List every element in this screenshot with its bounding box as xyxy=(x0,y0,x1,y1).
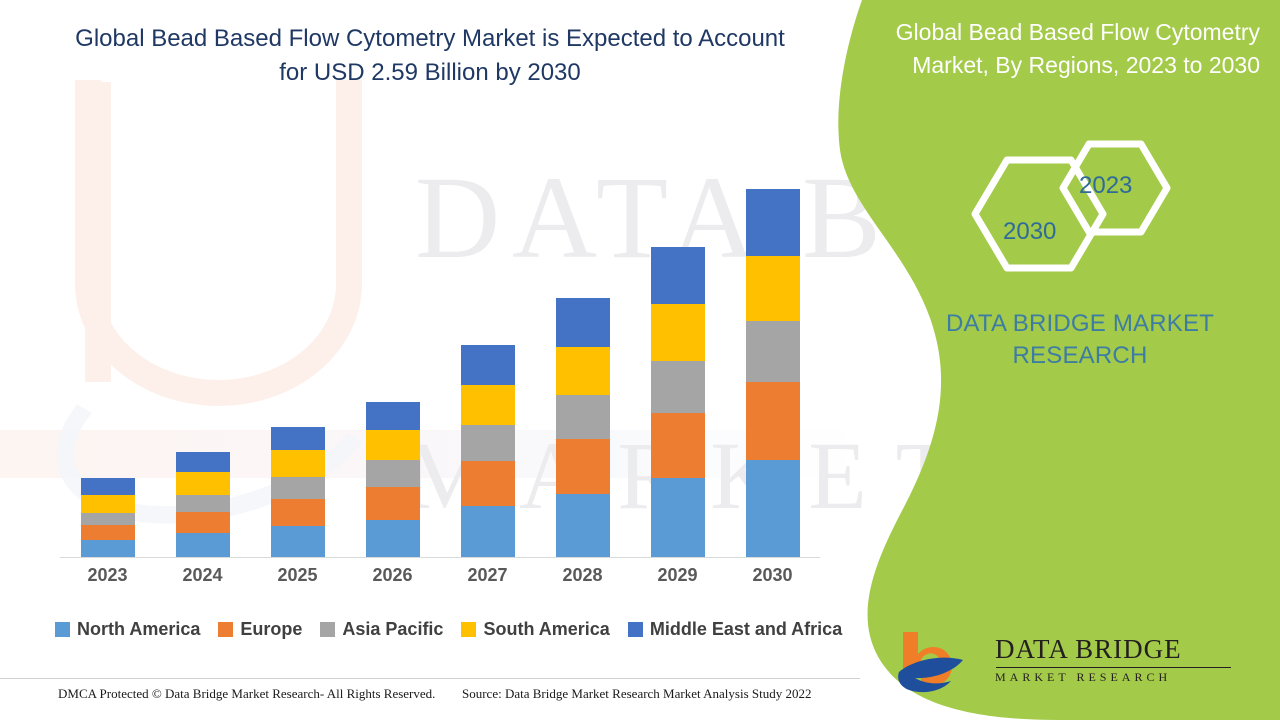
logo-main-text: DATA BRIDGE xyxy=(995,636,1265,663)
stacked-bar-chart xyxy=(60,120,820,558)
bar-segment-north-america xyxy=(271,526,325,557)
footer-divider xyxy=(0,678,860,679)
footer-copyright: DMCA Protected © Data Bridge Market Rese… xyxy=(58,686,435,702)
x-axis-label-2027: 2027 xyxy=(440,565,535,595)
x-axis-label-2029: 2029 xyxy=(630,565,725,595)
x-axis-label-2024: 2024 xyxy=(155,565,250,595)
bar-segment-middle-east-and-africa xyxy=(81,478,135,495)
bar-group xyxy=(60,120,820,557)
legend-item-asia-pacific[interactable]: Asia Pacific xyxy=(320,619,443,640)
legend-item-europe[interactable]: Europe xyxy=(218,619,302,640)
bar-segment-middle-east-and-africa xyxy=(366,402,420,430)
x-axis-line xyxy=(60,557,820,558)
x-axis-labels: 20232024202520262027202820292030 xyxy=(60,565,820,595)
legend-item-north-america[interactable]: North America xyxy=(55,619,200,640)
stacked-bar xyxy=(556,298,610,557)
bar-segment-north-america xyxy=(746,460,800,557)
bar-column-2023 xyxy=(60,120,155,557)
bar-segment-middle-east-and-africa xyxy=(176,452,230,472)
bar-segment-europe xyxy=(176,512,230,533)
bar-segment-asia-pacific xyxy=(461,425,515,461)
legend-label: Middle East and Africa xyxy=(650,619,842,640)
stacked-bar xyxy=(366,402,420,557)
bar-segment-south-america xyxy=(176,472,230,495)
bar-column-2030 xyxy=(725,120,820,557)
bar-segment-asia-pacific xyxy=(366,460,420,487)
bar-segment-south-america xyxy=(81,495,135,513)
bar-column-2027 xyxy=(440,120,535,557)
bar-segment-europe xyxy=(271,499,325,526)
bar-segment-middle-east-and-africa xyxy=(271,427,325,450)
logo-wordmark: DATA BRIDGE MARKET RESEARCH xyxy=(995,636,1265,683)
bar-segment-middle-east-and-africa xyxy=(556,298,610,347)
logo-rule xyxy=(996,667,1231,668)
bar-segment-asia-pacific xyxy=(81,513,135,525)
bar-segment-europe xyxy=(651,413,705,478)
bar-segment-asia-pacific xyxy=(271,477,325,499)
bar-segment-south-america xyxy=(651,304,705,361)
bar-column-2026 xyxy=(345,120,440,557)
footer: DMCA Protected © Data Bridge Market Rese… xyxy=(0,683,860,713)
logo-sub-text: MARKET RESEARCH xyxy=(995,671,1265,683)
page-title: Global Bead Based Flow Cytometry Market … xyxy=(70,22,790,89)
bar-segment-south-america xyxy=(746,256,800,321)
bar-segment-north-america xyxy=(176,533,230,557)
stacked-bar xyxy=(746,189,800,557)
legend-label: North America xyxy=(77,619,200,640)
bar-segment-asia-pacific xyxy=(746,321,800,382)
legend-label: Europe xyxy=(240,619,302,640)
logo-mark-icon xyxy=(895,628,985,698)
bar-column-2025 xyxy=(250,120,345,557)
legend-swatch-icon xyxy=(461,622,476,637)
stacked-bar xyxy=(461,345,515,557)
bar-segment-europe xyxy=(461,461,515,506)
bar-segment-north-america xyxy=(461,506,515,557)
stacked-bar xyxy=(271,427,325,557)
bar-column-2028 xyxy=(535,120,630,557)
side-panel-title: Global Bead Based Flow Cytometry Market,… xyxy=(890,16,1270,81)
legend-label: South America xyxy=(483,619,609,640)
bar-segment-south-america xyxy=(271,450,325,477)
x-axis-label-2026: 2026 xyxy=(345,565,440,595)
x-axis-label-2028: 2028 xyxy=(535,565,630,595)
bar-segment-middle-east-and-africa xyxy=(651,247,705,304)
bar-segment-middle-east-and-africa xyxy=(746,189,800,256)
brand-name: DATA BRIDGE MARKET RESEARCH xyxy=(900,308,1260,373)
legend-swatch-icon xyxy=(628,622,643,637)
stacked-bar xyxy=(651,247,705,557)
legend-swatch-icon xyxy=(55,622,70,637)
infographic-root: DATA BRIDGE MARKET RESEARCH Global Bead … xyxy=(0,0,1280,720)
legend-label: Asia Pacific xyxy=(342,619,443,640)
bar-segment-south-america xyxy=(461,385,515,425)
chart-legend: North AmericaEuropeAsia PacificSouth Ame… xyxy=(55,616,845,642)
legend-swatch-icon xyxy=(218,622,233,637)
chart-area: Global Bead Based Flow Cytometry Market … xyxy=(0,0,860,720)
x-axis-label-2030: 2030 xyxy=(725,565,820,595)
hexagon-label-2030: 2030 xyxy=(1003,218,1056,246)
bar-segment-europe xyxy=(556,439,610,494)
bar-segment-south-america xyxy=(366,430,420,460)
bar-column-2024 xyxy=(155,120,250,557)
bar-segment-north-america xyxy=(81,540,135,557)
bar-segment-north-america xyxy=(366,520,420,557)
hexagon-group: 2023 2030 xyxy=(955,130,1215,300)
bar-column-2029 xyxy=(630,120,725,557)
stacked-bar xyxy=(81,478,135,557)
x-axis-label-2025: 2025 xyxy=(250,565,345,595)
company-logo: DATA BRIDGE MARKET RESEARCH xyxy=(890,628,1270,700)
stacked-bar xyxy=(176,452,230,557)
legend-item-middle-east-and-africa[interactable]: Middle East and Africa xyxy=(628,619,842,640)
bar-segment-north-america xyxy=(651,478,705,557)
bar-segment-asia-pacific xyxy=(651,361,705,413)
bar-segment-europe xyxy=(746,382,800,460)
bar-segment-europe xyxy=(81,525,135,540)
bar-segment-europe xyxy=(366,487,420,520)
bar-segment-middle-east-and-africa xyxy=(461,345,515,385)
footer-source: Source: Data Bridge Market Research Mark… xyxy=(462,686,811,702)
bar-segment-north-america xyxy=(556,494,610,557)
side-panel: Global Bead Based Flow Cytometry Market,… xyxy=(880,0,1280,720)
hexagon-label-2023: 2023 xyxy=(1079,172,1132,200)
bar-segment-asia-pacific xyxy=(176,495,230,512)
legend-swatch-icon xyxy=(320,622,335,637)
bar-segment-asia-pacific xyxy=(556,395,610,439)
x-axis-label-2023: 2023 xyxy=(60,565,155,595)
bar-segment-south-america xyxy=(556,347,610,395)
legend-item-south-america[interactable]: South America xyxy=(461,619,609,640)
